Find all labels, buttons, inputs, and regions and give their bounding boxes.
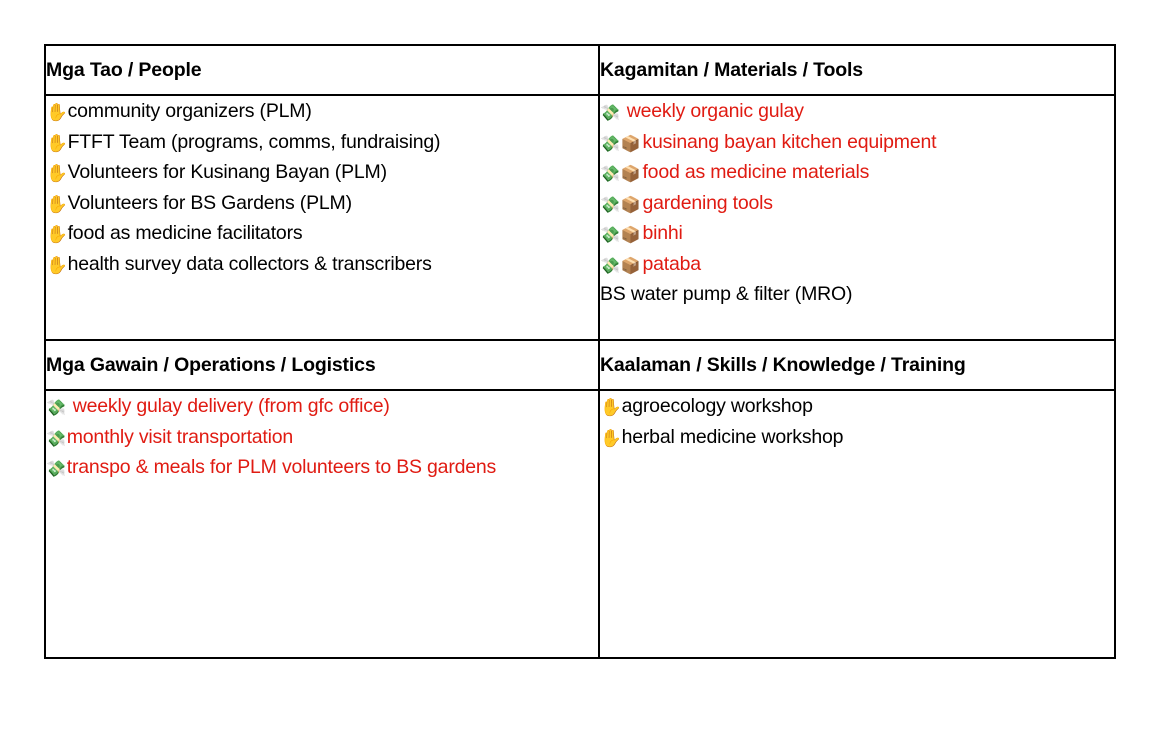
list-item-label: food as medicine facilitators [68,222,303,244]
list-item: 💸monthly visit transportation [46,422,598,453]
package-icon: 📦 [621,136,641,152]
list-item-label: Volunteers for BS Gardens (PLM) [68,192,352,214]
item-list-operations: 💸weekly gulay delivery (from gfc office)… [46,391,598,483]
list-item-label: BS water pump & filter (MRO) [600,283,852,305]
asset-map-table: Mga Tao / People Kagamitan / Materials /… [44,44,1116,659]
body-cell-people: ✋community organizers (PLM)✋FTFT Team (p… [45,95,599,340]
item-list-materials: 💸weekly organic gulay💸📦kusinang bayan ki… [600,96,1114,310]
list-item: ✋agroecology workshop [600,391,1114,422]
list-item-label: food as medicine materials [642,161,869,183]
raised-hand-icon: ✋ [46,197,68,215]
list-item-label: transpo & meals for PLM volunteers to BS… [67,456,496,478]
money-with-wings-icon: 💸 [46,400,66,416]
list-item: ✋herbal medicine workshop [600,422,1114,453]
list-item-label: Volunteers for Kusinang Bayan (PLM) [68,161,387,183]
list-item: 💸📦kusinang bayan kitchen equipment [600,127,1114,158]
list-item-label: gardening tools [642,192,772,214]
table-body-row-2: 💸weekly gulay delivery (from gfc office)… [45,390,1115,658]
money-with-wings-icon: 💸 [600,166,620,182]
raised-hand-icon: ✋ [46,166,68,184]
package-icon: 📦 [621,258,641,274]
raised-hand-icon: ✋ [46,105,68,123]
list-item-label: kusinang bayan kitchen equipment [642,131,936,153]
header-cell-people: Mga Tao / People [45,45,599,95]
list-item-label: monthly visit transportation [67,426,293,448]
column-header-label: Mga Tao / People [46,46,598,94]
body-cell-materials: 💸weekly organic gulay💸📦kusinang bayan ki… [599,95,1115,340]
header-cell-materials: Kagamitan / Materials / Tools [599,45,1115,95]
body-cell-operations: 💸weekly gulay delivery (from gfc office)… [45,390,599,658]
list-item-label: weekly gulay delivery (from gfc office) [73,395,390,417]
page-root: Mga Tao / People Kagamitan / Materials /… [0,0,1150,754]
header-cell-knowledge: Kaalaman / Skills / Knowledge / Training [599,340,1115,390]
list-item: ✋health survey data collectors & transcr… [46,249,598,280]
header-cell-operations: Mga Gawain / Operations / Logistics [45,340,599,390]
raised-hand-icon: ✋ [46,136,68,154]
money-with-wings-icon: 💸 [46,461,66,477]
body-cell-knowledge: ✋agroecology workshop✋herbal medicine wo… [599,390,1115,658]
list-item: 💸📦gardening tools [600,188,1114,219]
table-header-row-1: Mga Tao / People Kagamitan / Materials /… [45,45,1115,95]
money-with-wings-icon: 💸 [600,258,620,274]
column-header-label: Kagamitan / Materials / Tools [600,46,1114,94]
raised-hand-icon: ✋ [46,258,68,276]
list-item: 💸📦pataba [600,249,1114,280]
table-body: Mga Tao / People Kagamitan / Materials /… [45,45,1115,658]
list-item-label: agroecology workshop [622,395,813,417]
list-item-label: health survey data collectors & transcri… [68,253,432,275]
money-with-wings-icon: 💸 [600,227,620,243]
list-item-label: community organizers (PLM) [68,100,312,122]
table-body-row-1: ✋community organizers (PLM)✋FTFT Team (p… [45,95,1115,340]
list-item: 💸transpo & meals for PLM volunteers to B… [46,452,598,483]
list-item-label: binhi [642,222,682,244]
item-list-people: ✋community organizers (PLM)✋FTFT Team (p… [46,96,598,279]
money-with-wings-icon: 💸 [600,197,620,213]
package-icon: 📦 [621,197,641,213]
list-item: ✋Volunteers for BS Gardens (PLM) [46,188,598,219]
list-item-label: FTFT Team (programs, comms, fundraising) [68,131,441,153]
list-item: 💸📦binhi [600,218,1114,249]
column-header-label: Kaalaman / Skills / Knowledge / Training [600,341,1114,389]
list-item: ✋FTFT Team (programs, comms, fundraising… [46,127,598,158]
list-item-label: weekly organic gulay [627,100,804,122]
column-header-label: Mga Gawain / Operations / Logistics [46,341,598,389]
list-item: 💸weekly gulay delivery (from gfc office) [46,391,598,422]
table-header-row-2: Mga Gawain / Operations / Logistics Kaal… [45,340,1115,390]
list-item: ✋Volunteers for Kusinang Bayan (PLM) [46,157,598,188]
package-icon: 📦 [621,166,641,182]
raised-hand-icon: ✋ [46,227,68,245]
list-item-label: pataba [642,253,700,275]
list-item-label: herbal medicine workshop [622,426,844,448]
package-icon: 📦 [621,227,641,243]
item-list-knowledge: ✋agroecology workshop✋herbal medicine wo… [600,391,1114,452]
list-item: 💸📦food as medicine materials [600,157,1114,188]
money-with-wings-icon: 💸 [46,431,66,447]
raised-hand-icon: ✋ [600,400,622,418]
money-with-wings-icon: 💸 [600,136,620,152]
list-item: 💸weekly organic gulay [600,96,1114,127]
list-item: ✋community organizers (PLM) [46,96,598,127]
list-item: BS water pump & filter (MRO) [600,279,1114,310]
money-with-wings-icon: 💸 [600,105,620,121]
list-item: ✋food as medicine facilitators [46,218,598,249]
raised-hand-icon: ✋ [600,431,622,449]
